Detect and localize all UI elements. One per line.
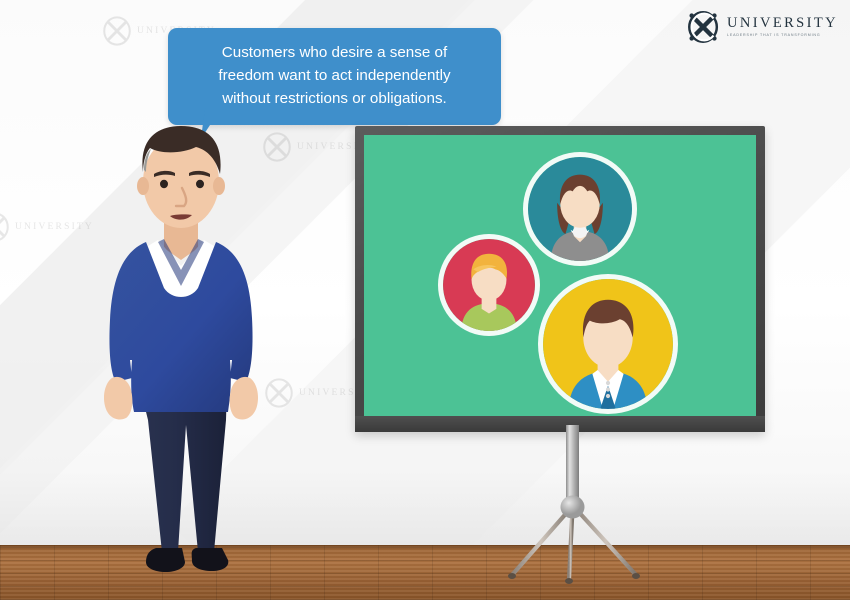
man-avatar [543,279,673,409]
presenter-ear-left [137,177,149,195]
video-frame: UNIVERSITY UNIVERSITY UNIVERSITY UNIVERS… [0,0,850,600]
woman-avatar [528,157,632,261]
tripod-legs [512,509,636,580]
brand-logo: UNIVERSITY LEADERSHIP THAT IS TRANSFORMI… [685,8,838,46]
brand-text-block: UNIVERSITY LEADERSHIP THAT IS TRANSFORMI… [727,16,838,37]
brand-name: UNIVERSITY [727,16,838,31]
brand-x-monogram-icon [685,8,723,46]
presenter-shoes [146,548,228,572]
presenter-character [86,120,276,590]
brand-tagline: LEADERSHIP THAT IS TRANSFORMING [727,34,838,38]
tripod-feet [508,573,640,584]
presenter-ear-right [213,177,225,195]
man-avatar-illustration-icon [543,279,673,409]
young-person-avatar [443,239,535,331]
tripod-pole [566,425,579,507]
woman-avatar-illustration-icon [528,157,632,261]
tripod-hub [561,496,585,519]
young-person-avatar-illustration-icon [443,239,535,331]
tripod-stand [490,425,660,590]
speech-bubble-text: Customers who desire a sense of freedom … [184,41,485,110]
